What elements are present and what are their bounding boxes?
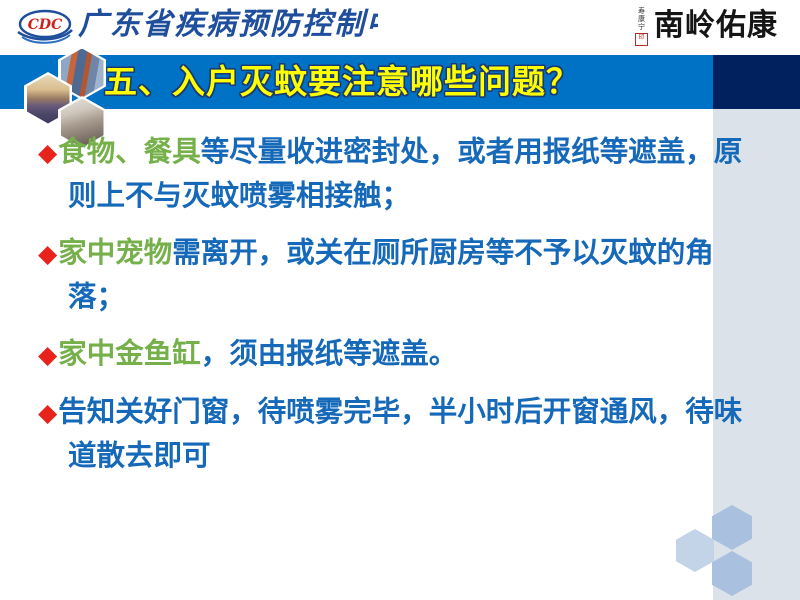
bullet-list: ◆食物、餐具等尽量收进密封处，或者用报纸等遮盖，原则上不与灭蚊喷雾相接触； ◆家… xyxy=(38,130,760,491)
bullet-marker-icon: ◆ xyxy=(38,239,58,268)
red-seal-stamp-icon: 印 xyxy=(635,33,648,46)
list-item: ◆告知关好门窗，待喷雾完毕，半小时后开窗通风，待味道散去即可 xyxy=(38,390,760,477)
list-item: ◆食物、餐具等尽量收进密封处，或者用报纸等遮盖，原则上不与灭蚊喷雾相接触； xyxy=(38,130,760,217)
bullet-text: ◆家中金鱼缸，须由报纸等遮盖。 xyxy=(38,332,760,376)
bullet-text: ◆食物、餐具等尽量收进密封处，或者用报纸等遮盖，原则上不与灭蚊喷雾相接触； xyxy=(38,130,760,217)
bullet-rest: 告知关好门窗，待喷雾完毕，半小时后开窗通风，待味道散去即可 xyxy=(58,395,742,472)
bullet-marker-icon: ◆ xyxy=(38,340,58,369)
bullet-text: ◆告知关好门窗，待喷雾完毕，半小时后开窗通风，待味道散去即可 xyxy=(38,390,760,477)
list-item: ◆家中宠物需离开，或关在厕所厨房等不予以灭蚊的角落； xyxy=(38,231,760,318)
bullet-rest: ，须由报纸等遮盖。 xyxy=(201,337,458,370)
calligraphy-title: 南岭佑康 xyxy=(654,4,778,48)
calligraphy-block: 寿康宁 印 南岭佑康 xyxy=(635,0,778,52)
list-item: ◆家中金鱼缸，须由报纸等遮盖。 xyxy=(38,332,760,376)
bullet-highlight: 家中宠物 xyxy=(58,236,172,269)
calligraphy-inscription: 寿康宁 xyxy=(638,7,646,31)
bullet-highlight: 家中金鱼缸 xyxy=(58,337,201,370)
bullet-text: ◆家中宠物需离开，或关在厕所厨房等不予以灭蚊的角落； xyxy=(38,231,760,318)
slide-header: CDC 广东省疾病预防控制中心 寿康宁 印 南岭佑康 xyxy=(0,0,800,55)
decorative-hexagon-top xyxy=(712,505,752,550)
bullet-highlight: 食物、餐具 xyxy=(58,135,201,168)
bullet-marker-icon: ◆ xyxy=(38,138,58,167)
cdc-logo-icon: CDC xyxy=(16,6,74,46)
decorative-hexagon-left xyxy=(676,529,714,572)
decorative-hexagon-bottom xyxy=(712,551,752,596)
page-title: 五、入户灭蚊要注意哪些问题？ xyxy=(104,57,580,107)
bullet-marker-icon: ◆ xyxy=(38,398,58,427)
slide: CDC 广东省疾病预防控制中心 寿康宁 印 南岭佑康 五、入户灭蚊要注意哪些问题… xyxy=(0,0,800,600)
title-bar-accent xyxy=(713,55,800,109)
calligraphy-inscription-column: 寿康宁 印 xyxy=(635,4,648,48)
organization-name: 广东省疾病预防控制中心 xyxy=(78,2,378,50)
decorative-hexagon-group xyxy=(676,505,786,600)
svg-text:CDC: CDC xyxy=(28,17,62,33)
